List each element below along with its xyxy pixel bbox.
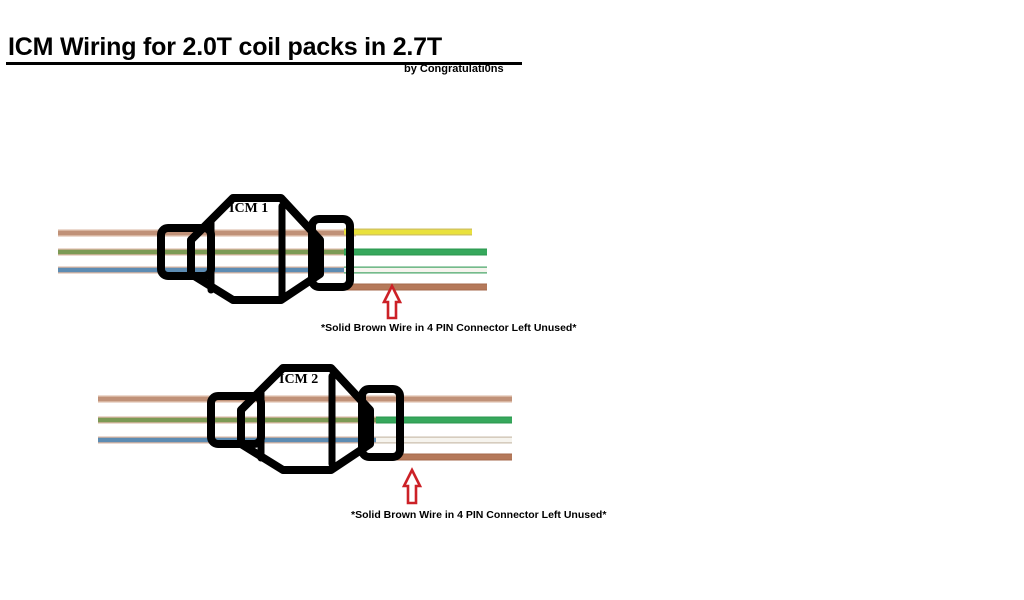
icm-1-note: *Solid Brown Wire in 4 PIN Connector Lef… bbox=[321, 322, 576, 334]
icm-1-label: ICM 1 bbox=[229, 201, 268, 217]
icm-1-diagram bbox=[58, 198, 487, 300]
icm-2-note: *Solid Brown Wire in 4 PIN Connector Lef… bbox=[351, 509, 606, 521]
arrow-up-icon-1 bbox=[384, 286, 400, 318]
arrow-up-icon-2 bbox=[404, 470, 420, 503]
icm-1-output-wires bbox=[344, 232, 487, 287]
icm-2-label: ICM 2 bbox=[279, 372, 318, 388]
arrow-up-icon-1-shape bbox=[384, 286, 400, 318]
arrow-up-icon-2-shape bbox=[404, 470, 420, 503]
